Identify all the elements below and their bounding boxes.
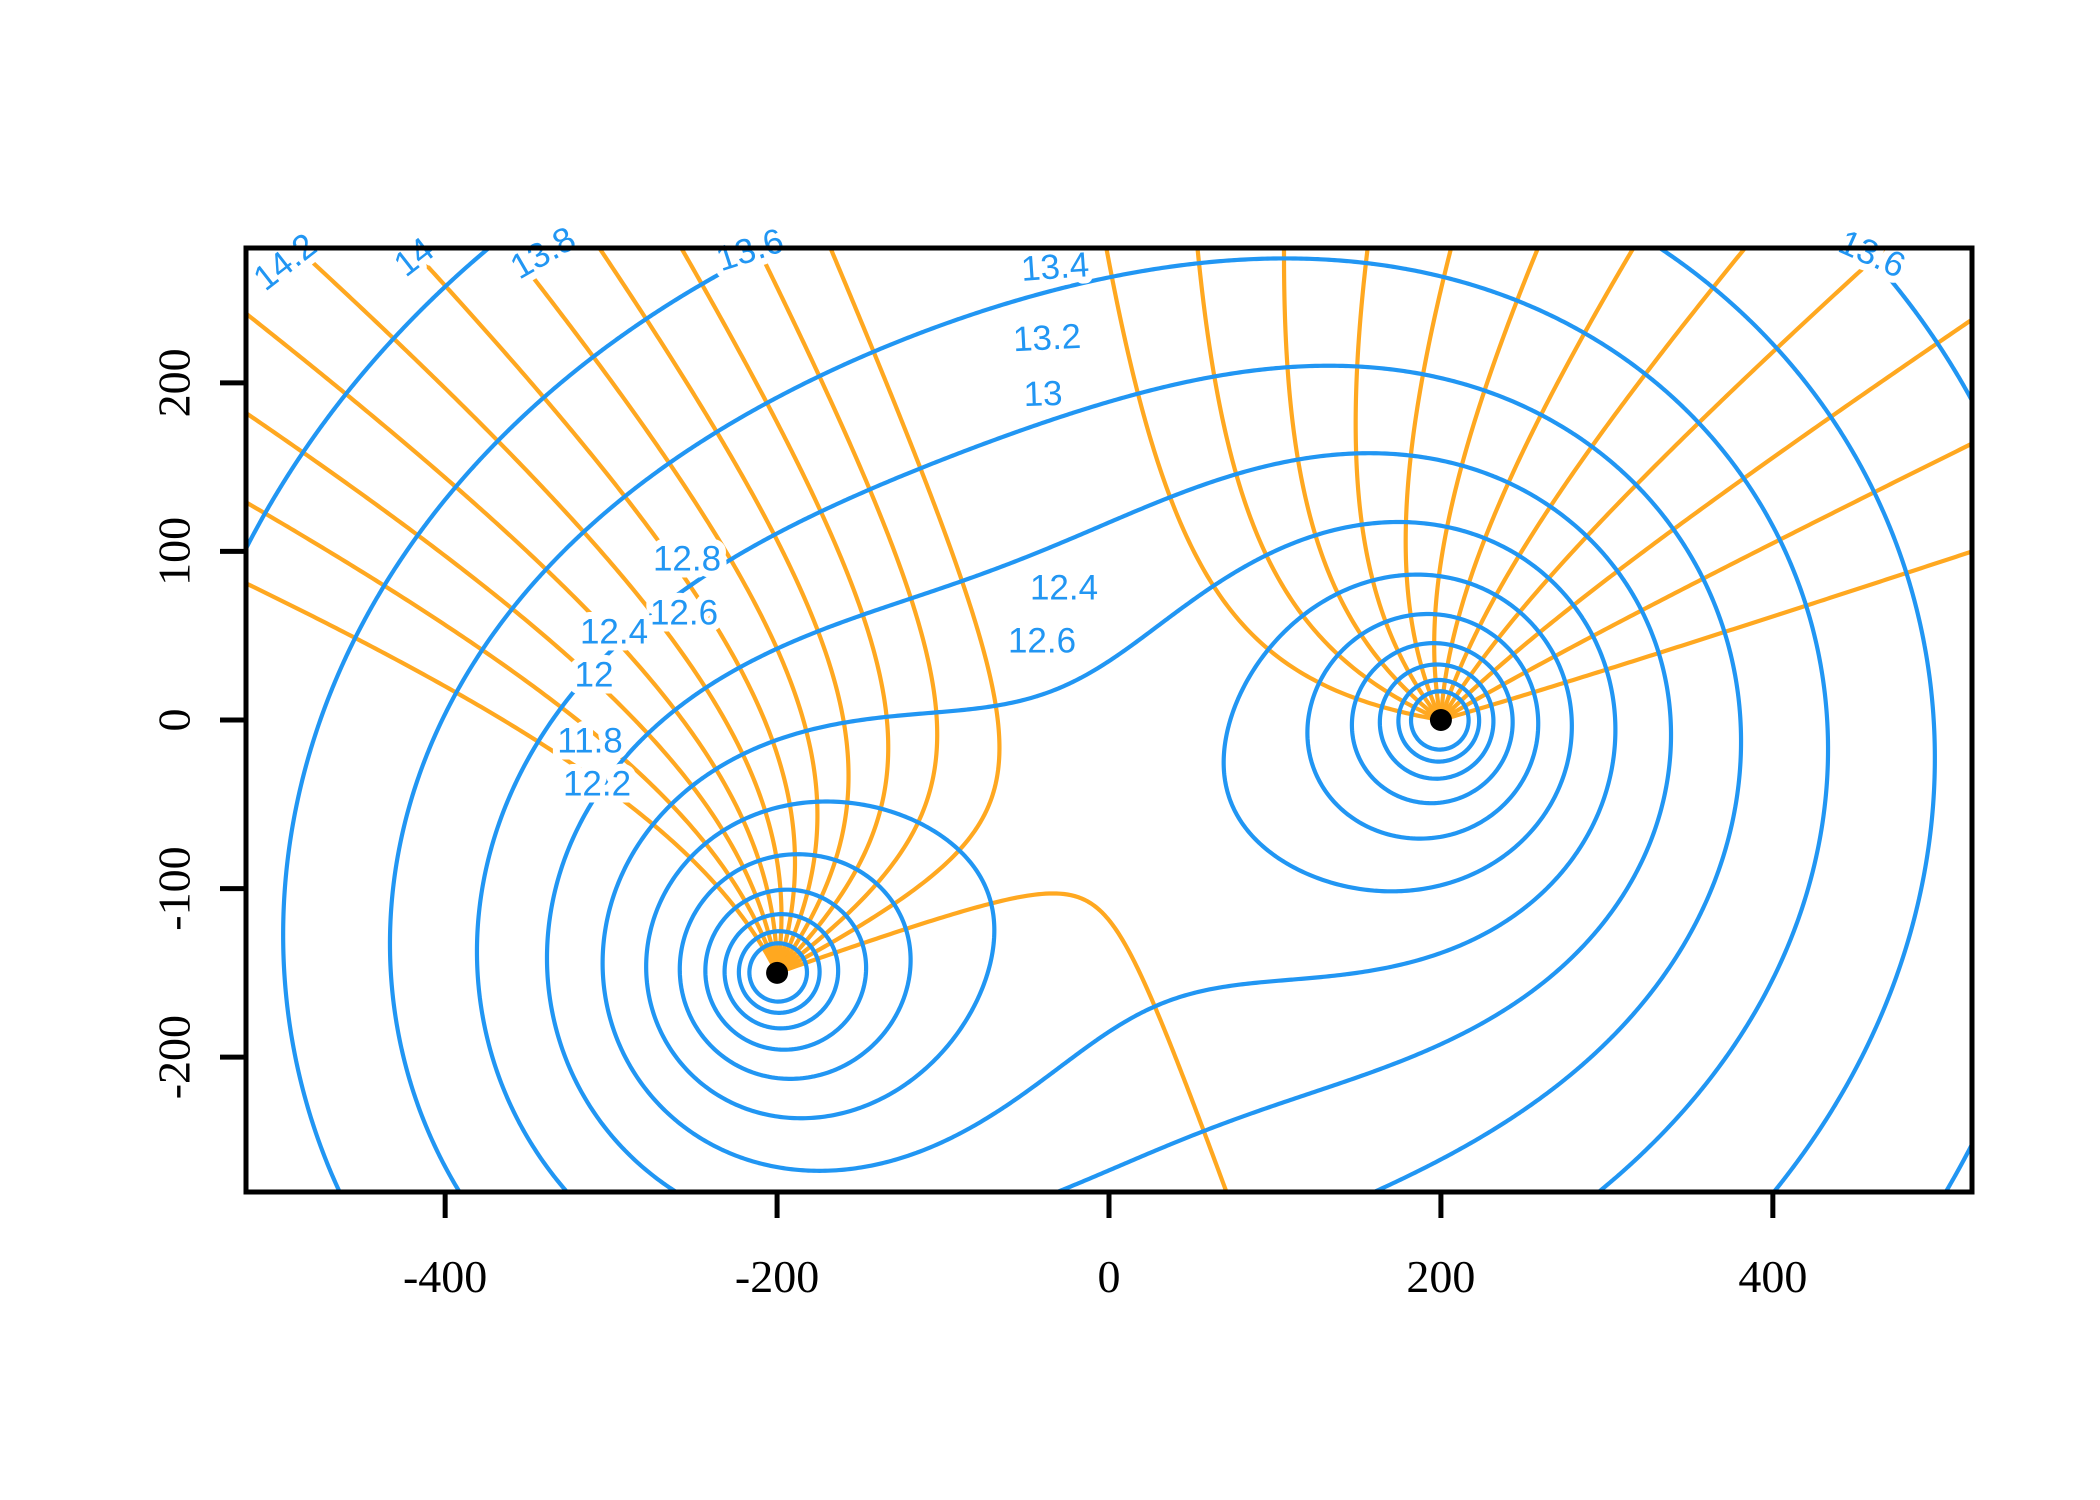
contour-label: 13.613.6 [1833,222,1911,285]
contour-label-text: 13.2 [1012,317,1082,360]
source-marker [766,962,788,984]
equipotential-contour [477,366,1741,1192]
contour-label: 14.214.2 [246,226,324,299]
streamline [1192,183,1432,716]
x-axis-tick-label: 200 [1406,1251,1475,1302]
contour-label-text: 12.6 [1008,622,1076,661]
y-axis-tick-label: 0 [149,709,200,732]
contour-label: 1212 [575,656,614,695]
contour-label-text: 13 [1023,374,1063,414]
source-marker [1430,709,1452,731]
contour-label-text: 14.2 [246,226,324,299]
y-axis-tick-label-group: 0 [149,709,200,732]
y-axis-tick-label: 100 [149,517,200,586]
contour-label-text: 12 [575,656,614,695]
streamline [1406,184,1469,711]
equipotential-contour [283,248,769,1192]
contour-label-text: 12.4 [1030,569,1098,608]
y-axis-tick-label-group: -100 [149,846,200,930]
contour-label: 12.612.6 [1008,622,1076,661]
equipotential-contour [1307,614,1538,839]
x-axis-tick-label: -400 [403,1251,487,1302]
y-axis-tick-label-group: 200 [149,348,200,417]
equipotential-contour [1946,1144,1972,1192]
streamline [1450,412,2036,715]
streamline [180,368,776,963]
contour-label: 13.213.2 [1012,317,1082,360]
x-axis-tick-label: 400 [1738,1251,1807,1302]
streamline [1444,183,1799,710]
contour-label-text: 12.4 [580,613,648,652]
x-axis-tick-label: 0 [1098,1251,1121,1302]
contour-plot-figure: 14.214.2141413.813.813.613.613.413.413.2… [0,0,2100,1500]
streamline [350,183,795,963]
streamline [786,183,1000,968]
y-axis-tick-label: -100 [149,846,200,930]
streamline [786,893,1250,1258]
contour-label: 12.612.6 [650,594,718,633]
contour-label-text: 12.8 [653,540,721,579]
contour-label: 11.811.8 [557,722,623,761]
y-axis-tick-label-group: -200 [149,1015,200,1099]
contour-label: 12.212.2 [563,765,631,804]
contour-label: 1414 [387,230,442,285]
y-axis-tick-label-group: 100 [149,517,200,586]
contour-label-text: 13.8 [504,219,582,287]
x-axis-tick-label: -200 [735,1251,819,1302]
contour-label-text: 13.6 [1833,222,1911,285]
y-axis-tick-label: -200 [149,1015,200,1099]
plot-canvas: 14.214.2141413.813.813.613.613.413.413.2… [0,0,2100,1500]
contour-label-text: 12.2 [563,765,631,804]
y-axis-tick-label: 200 [149,348,200,417]
contour-label: 12.412.4 [1030,569,1098,608]
contour-label: 12.412.4 [580,613,648,652]
contour-label-text: 11.8 [557,722,623,761]
contour-label-text: 12.6 [650,594,718,633]
streamline [726,183,938,967]
contour-label-text: 14 [387,230,442,285]
contour-label: 13.813.8 [504,219,582,287]
equipotential-contour [1224,575,1572,892]
streamline [1448,275,2037,712]
streamlines-layer [180,181,2037,1258]
equipotential-contour [1660,248,1935,1192]
contour-label: 12.812.8 [653,540,721,579]
contour-label: 1313 [1023,374,1063,414]
contour-label-text: 13.4 [1020,245,1091,289]
contour-label: 13.413.4 [1020,245,1091,289]
